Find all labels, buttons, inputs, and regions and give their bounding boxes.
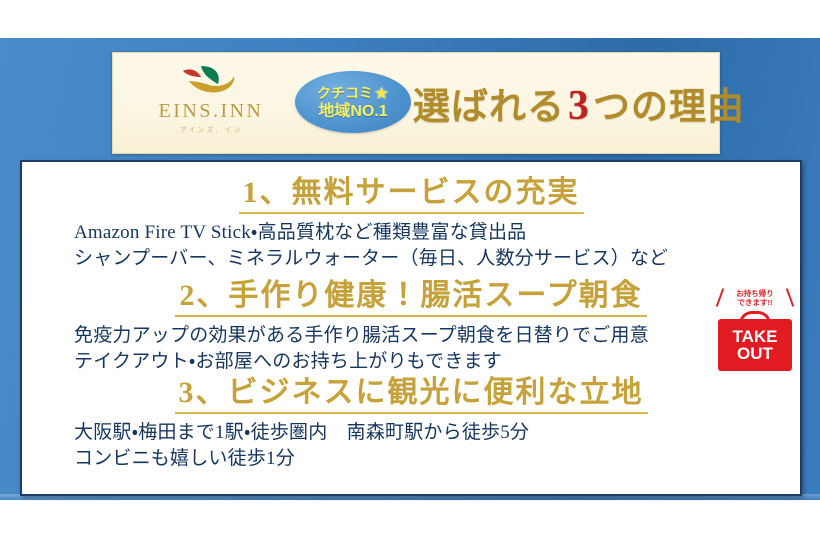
review-rank-badge: クチコミ ★ 地域NO.1: [295, 71, 411, 133]
takeout-slash-left-icon: [716, 288, 724, 307]
reason-section-2: 2、手作り健康！腸活スープ朝食 免疫力アップの効果がある手作り腸活スープ朝食を日…: [22, 279, 800, 374]
brand-logo: EINS.INN アインズ．イン: [135, 65, 287, 135]
headline-suffix: つの理由: [593, 87, 745, 128]
reason-3-title: 3、ビジネスに観光に便利な立地: [175, 376, 648, 414]
badge-line2: 地域NO.1: [318, 104, 387, 121]
slide-canvas: EINS.INN アインズ．イン クチコミ ★ 地域NO.1 選ばれる3つの理由…: [0, 0, 820, 560]
star-icon: ★: [374, 84, 389, 104]
takeout-label-line2: OUT: [737, 345, 773, 362]
takeout-caption-text: お持ち帰り できます!!: [736, 289, 774, 308]
badge-line1: クチコミ: [317, 86, 373, 101]
reasons-card: 1、無料サービスの充実 Amazon Fire TV Stick・高品質枕など種…: [20, 160, 802, 496]
shopping-bag-icon: TAKE OUT: [718, 311, 792, 371]
takeout-slash-right-icon: [786, 288, 794, 307]
reason-1-title-wrap: 1、無料サービスの充実: [22, 176, 800, 214]
reason-2-title: 2、手作り健康！腸活スープ朝食: [175, 279, 646, 317]
reason-section-1: 1、無料サービスの充実 Amazon Fire TV Stick・高品質枕など種…: [22, 176, 800, 271]
takeout-caption-line2: できます!!: [736, 298, 774, 307]
reason-3-line-2: コンビニも嬉しい徒歩1分: [74, 446, 800, 472]
takeout-caption-line1: お持ち帰り: [736, 289, 774, 298]
banner-headline: 選ばれる3つの理由: [413, 76, 745, 130]
bag-body: TAKE OUT: [718, 319, 792, 371]
logo-wordmark: EINS.INN: [135, 101, 287, 121]
reason-2-title-wrap: 2、手作り健康！腸活スープ朝食: [22, 279, 800, 317]
reason-1-title: 1、無料サービスの充実: [239, 176, 584, 214]
headline-number: 3: [565, 83, 593, 129]
reason-2-lines: 免疫力アップの効果がある手作り腸活スープ朝食を日替りでご用意 テイクアウト・お部…: [22, 323, 800, 374]
reason-1-line-1: Amazon Fire TV Stick・高品質枕など種類豊富な貸出品: [74, 220, 800, 246]
reason-2-line-1: 免疫力アップの効果がある手作り腸活スープ朝食を日替りでご用意: [74, 323, 800, 349]
reason-3-lines: 大阪駅・梅田まで1駅・徒歩圏内 南森町駅から徒歩5分 コンビニも嬉しい徒歩1分: [22, 420, 800, 471]
logo-subtext: アインズ．イン: [135, 125, 287, 135]
takeout-label-line1: TAKE: [732, 328, 777, 345]
reason-1-line-2: シャンプーバー、ミネラルウォーター（毎日、人数分サービス）など: [74, 246, 800, 272]
headline-prefix: 選ばれる: [413, 87, 565, 128]
reason-3-title-wrap: 3、ビジネスに観光に便利な立地: [22, 376, 800, 414]
takeout-caption: お持ち帰り できます!!: [714, 286, 796, 310]
reason-2-line-2: テイクアウト・お部屋へのお持ち上がりもできます: [74, 349, 800, 375]
reasons-card-inner: 1、無料サービスの充実 Amazon Fire TV Stick・高品質枕など種…: [22, 162, 800, 494]
leaf-swoosh-icon: [171, 65, 251, 99]
reason-1-lines: Amazon Fire TV Stick・高品質枕など種類豊富な貸出品 シャンプ…: [22, 220, 800, 271]
header-banner-inner: EINS.INN アインズ．イン クチコミ ★ 地域NO.1 選ばれる3つの理由: [113, 53, 719, 153]
badge-line1-row: クチコミ ★: [317, 84, 389, 104]
header-banner: EINS.INN アインズ．イン クチコミ ★ 地域NO.1 選ばれる3つの理由: [112, 52, 720, 154]
takeout-stamp: お持ち帰り できます!! TAKE OUT: [714, 286, 796, 374]
reason-3-line-1: 大阪駅・梅田まで1駅・徒歩圏内 南森町駅から徒歩5分: [74, 420, 800, 446]
reason-section-3: 3、ビジネスに観光に便利な立地 大阪駅・梅田まで1駅・徒歩圏内 南森町駅から徒歩…: [22, 376, 800, 471]
